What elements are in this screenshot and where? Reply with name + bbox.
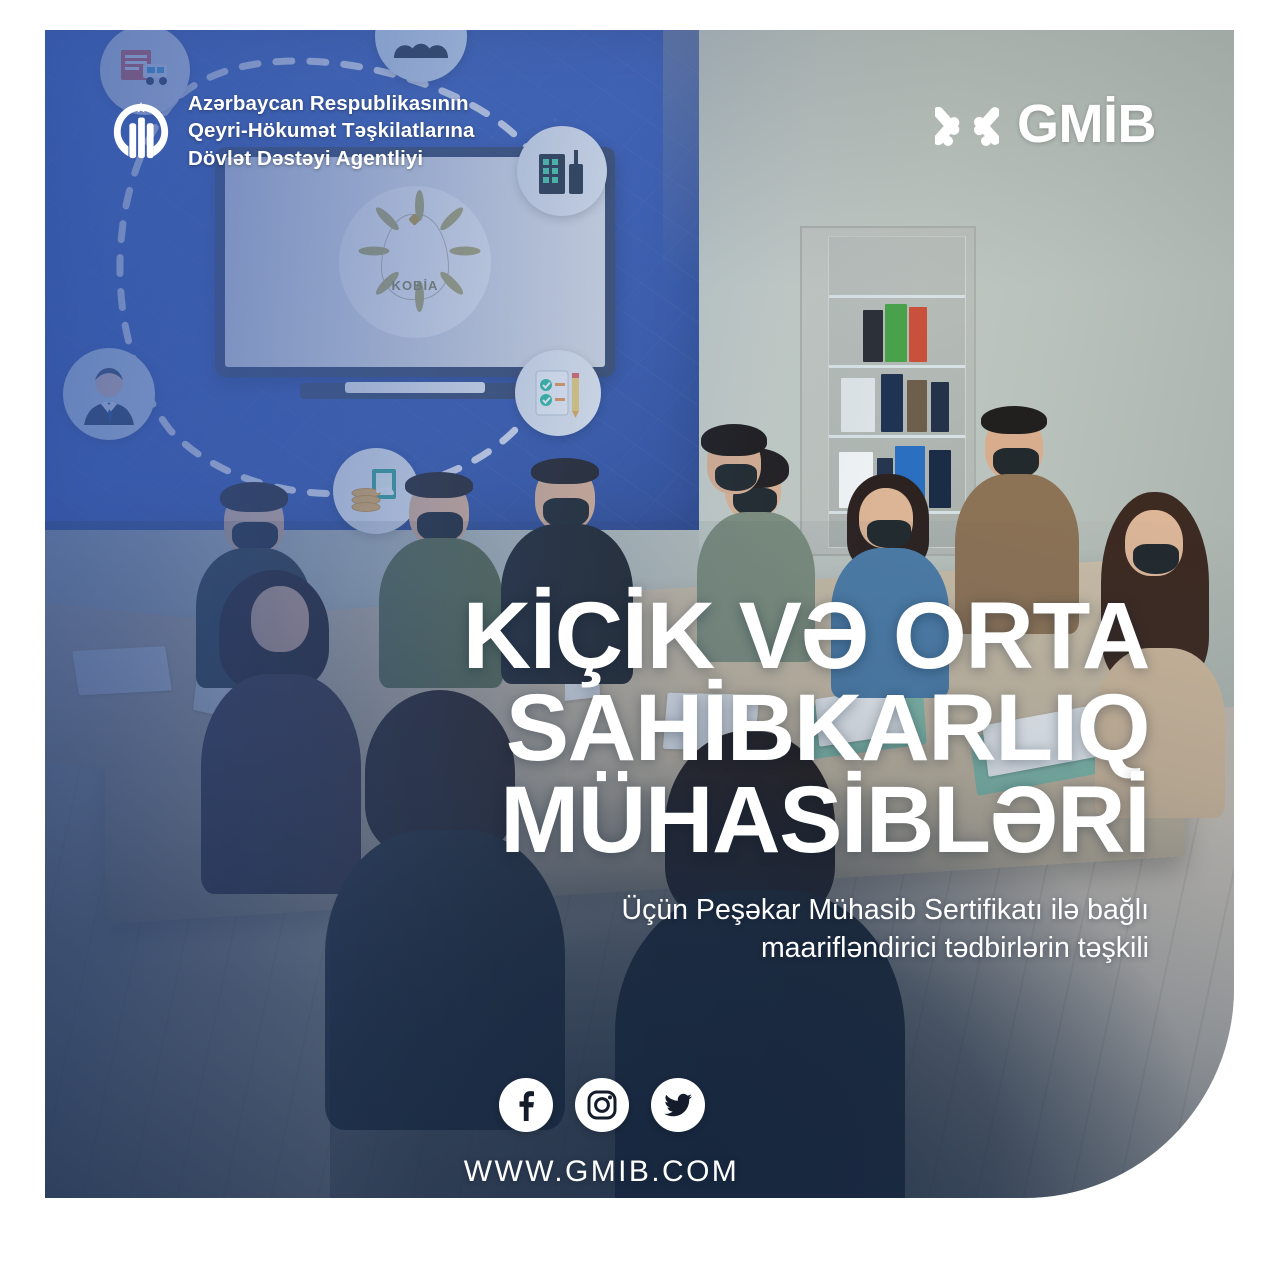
- subtitle-line-1: Üçün Peşəkar Mühasib Sertifikatı ilə bağ…: [449, 892, 1149, 930]
- poster-root: KOBİA: [0, 0, 1280, 1280]
- agency-logo-lockup: Azərbaycan Respublikasının Qeyri-Hökumət…: [110, 90, 475, 172]
- headline-line-1: KİÇİK VƏ ORTA: [389, 590, 1149, 682]
- twitter-link[interactable]: [651, 1078, 705, 1132]
- twitter-icon: [661, 1088, 695, 1122]
- instagram-link[interactable]: [575, 1078, 629, 1132]
- gmib-logo-lockup: GMİB: [935, 92, 1156, 156]
- website-url[interactable]: WWW.GMIB.COM: [45, 1155, 1234, 1189]
- photo-card: KOBİA: [45, 30, 1234, 1198]
- headline-line-2: SAHİBKARLIQ: [389, 682, 1149, 774]
- subtitle-line-2: maarifləndirici tədbirlərin təşkili: [449, 930, 1149, 968]
- page-subtitle: Üçün Peşəkar Mühasib Sertifikatı ilə bağ…: [449, 892, 1149, 968]
- headline-line-3: MÜHASİBLƏRİ: [389, 774, 1149, 866]
- agency-name: Azərbaycan Respublikasının Qeyri-Hökumət…: [188, 90, 475, 172]
- gmib-wordmark: GMİB: [1017, 93, 1156, 155]
- facebook-icon: [509, 1088, 543, 1122]
- gmib-x-icon: [935, 92, 999, 156]
- instagram-icon: [585, 1088, 619, 1122]
- agency-pillar-icon: [110, 100, 172, 162]
- facebook-link[interactable]: [499, 1078, 553, 1132]
- page-title: KİÇİK VƏ ORTA SAHİBKARLIQ MÜHASİBLƏRİ: [389, 590, 1149, 866]
- social-links: [45, 1078, 1234, 1132]
